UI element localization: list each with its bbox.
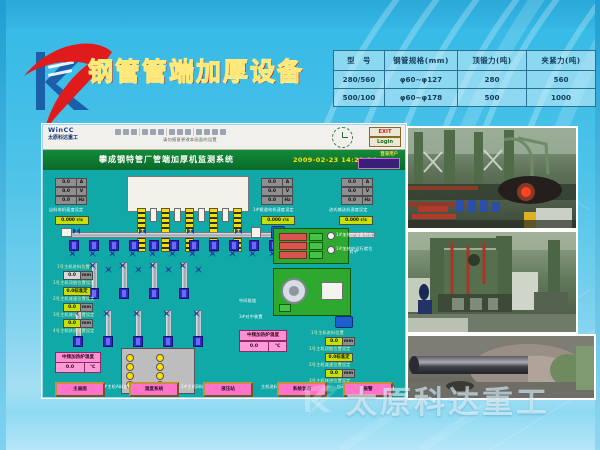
wincc-brand-text: WinCC: [48, 126, 74, 134]
heater-temp-title: 中频加热炉温度: [239, 330, 287, 341]
readout-unit: Hz: [76, 196, 87, 205]
cylinder-valve: [179, 288, 189, 299]
cross-node-icon: [89, 250, 96, 257]
status-label: 1#加热炉运行就位: [336, 246, 373, 252]
sensor-head: [222, 208, 229, 222]
background-left-edge: [0, 0, 6, 450]
cell-model: 280/560: [334, 71, 385, 89]
nav-button-hydraulic[interactable]: 液压站: [203, 382, 253, 397]
roller: [209, 240, 219, 251]
heater-temp-value: 0.0: [55, 362, 85, 373]
pipe-fitting: [61, 228, 72, 237]
param-label: 2号主机减速位置设定: [53, 296, 94, 302]
toolbar-separator: [139, 128, 140, 136]
th-model: 型 号: [334, 51, 385, 71]
status-lamp: [327, 246, 335, 254]
group-label: 1#辊道电机速度设定: [253, 207, 294, 213]
group-value: 0.000 r/s: [55, 216, 89, 225]
cylinder-valve: [73, 336, 83, 347]
group-label: 进式输送机速度设定: [329, 207, 368, 213]
cylinder-valve: [103, 336, 113, 347]
readout-unit: Hz: [282, 196, 293, 205]
roller: [109, 240, 119, 251]
heater-temp-value: 0.0: [239, 341, 269, 352]
cross-node-icon: [195, 266, 202, 273]
indicator-lamp: [126, 372, 134, 380]
param-label: 3号主机减速位置设定: [53, 312, 94, 318]
th-upset-force: 顶锻力(吨): [458, 51, 527, 71]
copy-icon[interactable]: [131, 129, 137, 135]
readout-unit: A: [362, 178, 373, 187]
cylinder-valve: [133, 336, 143, 347]
hmi-mimic-diagram: 0.0 A 0.0 V 0.0 Hz 出料电机速度设定 0.000 r/s 0.…: [43, 170, 405, 398]
param-value: 0.0: [63, 271, 81, 280]
specification-table: 型 号 钢管规格(mm) 顶锻力(吨) 夹紧力(吨) 280/560 φ60~φ…: [333, 50, 596, 107]
trend-icon[interactable]: [185, 129, 191, 135]
control-display: [321, 282, 343, 300]
cylinder-valve: [163, 336, 173, 347]
readout-voltage: 0.0: [341, 187, 363, 196]
wincc-brand: WinCC 太原科达重工: [48, 126, 78, 141]
cylinder-valve: [119, 288, 129, 299]
cylinder-valve: [193, 336, 203, 347]
group-value: 0.000 r/s: [339, 216, 373, 225]
sensor-head: [150, 208, 157, 222]
param-value: 0.0: [63, 303, 81, 312]
cross-node-icon: [249, 250, 256, 257]
roller: [129, 240, 139, 251]
status-label: 1#加热炉准备到位: [336, 232, 373, 238]
param-unit: mm: [80, 271, 93, 280]
toolbar-separator: [193, 128, 194, 136]
group-value: 0.000 r/s: [261, 216, 295, 225]
roller: [249, 240, 259, 251]
cross-node-icon: [109, 250, 116, 257]
info-icon[interactable]: [169, 129, 175, 135]
wincc-brand-sub: 太原科达重工: [48, 134, 78, 141]
grid-icon[interactable]: [212, 129, 218, 135]
watermark-text: 太原科达重工: [346, 377, 550, 422]
rotary-dial: [281, 278, 307, 304]
actuator-motor: [335, 316, 353, 328]
roller: [189, 240, 199, 251]
indicator-lamp: [126, 363, 134, 371]
manifold-valve: [279, 242, 307, 250]
list-icon[interactable]: [204, 129, 210, 135]
readout-unit: A: [76, 178, 87, 187]
indicator-lamp: [156, 363, 164, 371]
group-label: 出料电机速度设定: [49, 207, 83, 213]
zoom-in-icon[interactable]: [142, 129, 148, 135]
status-lamp: [327, 232, 335, 240]
control-terminal: [279, 304, 291, 312]
readout-frequency: 0.0: [341, 196, 363, 205]
analog-clock-icon: [332, 127, 353, 148]
cross-node-icon: [135, 266, 142, 273]
cell-upset-force: 280: [458, 71, 527, 89]
readout-current: 0.0: [341, 178, 363, 187]
readout-current: 0.0: [261, 178, 283, 187]
param-label: 4号主机快进位置设定: [53, 328, 94, 334]
param-value: 0.0: [325, 337, 343, 346]
param-unit: mm: [342, 337, 355, 346]
slide-root: 钢管管端加厚设备 型 号 钢管规格(mm) 顶锻力(吨) 夹紧力(吨) 280/…: [0, 0, 600, 450]
readout-unit: A: [282, 178, 293, 187]
toolbar-icon-strip[interactable]: [115, 128, 226, 136]
param-label: 2号主机减速位置设定: [309, 362, 350, 368]
param-unit: mm: [80, 319, 93, 328]
heater-temp-unit: ℃: [268, 341, 287, 352]
cross-node-icon: [165, 266, 172, 273]
workshop-conveyor-photo: [406, 126, 578, 230]
hmi-system-title: 攀成钢特管厂管端加厚机监测系统: [99, 154, 234, 165]
param-label: 1号主机顶锻位置设定: [309, 346, 350, 352]
indicator-lamp: [156, 372, 164, 380]
sensor-head: [174, 208, 181, 222]
readout-frequency: 0.0: [261, 196, 283, 205]
page-title: 钢管管端加厚设备: [88, 52, 304, 88]
toolbar-note: 请勿随意更改本画面的设置: [163, 137, 217, 143]
roller: [89, 240, 99, 251]
cell-pipe-size: φ60~φ178: [385, 89, 458, 107]
cross-node-icon: [169, 250, 176, 257]
login-button[interactable]: Login: [369, 137, 401, 147]
param-unit: mm: [80, 303, 93, 312]
readout-unit: V: [362, 187, 373, 196]
readout-unit: V: [76, 187, 87, 196]
save-icon[interactable]: [115, 129, 121, 135]
cell-model: 500/100: [334, 89, 385, 107]
toolbar-separator: [166, 128, 167, 136]
manifold-port: [309, 242, 323, 250]
roller: [149, 240, 159, 251]
roller: [229, 240, 239, 251]
zoom-out-icon[interactable]: [150, 129, 156, 135]
readout-unit: Hz: [362, 196, 373, 205]
table-row: 280/560 φ60~φ127 280 560: [334, 71, 596, 89]
cylinder-valve: [149, 288, 159, 299]
cell-clamp-force: 1000: [527, 89, 596, 107]
readout-voltage: 0.0: [55, 187, 77, 196]
param-value: 0.0标准定: [63, 287, 91, 296]
cell-clamp-force: 560: [527, 71, 596, 89]
param-value: 0.0: [63, 319, 81, 328]
roller: [169, 240, 179, 251]
readout-unit: V: [282, 187, 293, 196]
nav-button-main[interactable]: 主画面: [55, 382, 105, 397]
status-label: 3#对中装置: [239, 314, 263, 320]
cell-pipe-size: φ60~φ127: [385, 71, 458, 89]
hmi-toolbar: WinCC 太原科达重工 请勿随意更改本画面的设置 EXIT Login: [43, 125, 405, 150]
indicator-lamp: [156, 354, 164, 362]
th-clamp-force: 夹紧力(吨): [527, 51, 596, 71]
table-row: 500/100 φ60~φ178 500 1000: [334, 89, 596, 107]
hmi-user-input[interactable]: [358, 158, 400, 169]
nav-button-temperature[interactable]: 温度系统: [129, 382, 179, 397]
status-label: 中间辊道: [239, 298, 256, 304]
th-pipe-size: 钢管规格(mm): [385, 51, 458, 71]
watermark: 太原科达重工: [300, 376, 600, 422]
hmi-user-label: 登录用户: [380, 151, 398, 157]
cross-node-icon: [69, 250, 76, 257]
heater-temp-unit: ℃: [84, 362, 101, 373]
manifold-valve: [279, 233, 307, 241]
param-label: 1号主机顶锻位置设定: [53, 280, 94, 286]
param-value: 0.0标准定: [325, 353, 353, 362]
exit-button[interactable]: EXIT: [369, 127, 401, 137]
manifold-port: [309, 233, 323, 241]
cell-upset-force: 500: [458, 89, 527, 107]
cross-node-icon: [105, 266, 112, 273]
alarm-icon[interactable]: [177, 129, 183, 135]
watermark-logo-icon: [300, 382, 340, 416]
readout-current: 0.0: [55, 178, 77, 187]
param-label: 1号主机进料位置: [57, 264, 90, 270]
hmi-title-bar: 攀成钢特管厂管端加厚机监测系统 2009-02-23 14:29:24 登录用户: [43, 150, 405, 170]
manifold-valve: [279, 251, 307, 259]
upsetting-machine-photo: [406, 230, 578, 334]
sensor-head: [198, 208, 205, 222]
furnace-housing: [127, 176, 249, 212]
param-label: 1号主机进料位置: [311, 330, 344, 336]
roller: [69, 240, 79, 251]
readout-voltage: 0.0: [261, 187, 283, 196]
print-icon[interactable]: [123, 129, 129, 135]
window-icon[interactable]: [196, 129, 202, 135]
readout-frequency: 0.0: [55, 196, 77, 205]
help-icon[interactable]: [220, 129, 226, 135]
table-header-row: 型 号 钢管规格(mm) 顶锻力(吨) 夹紧力(吨): [334, 51, 596, 71]
pipe-fitting: [251, 227, 261, 238]
indicator-lamp: [126, 354, 134, 362]
manifold-port: [309, 251, 323, 259]
hmi-scada-screenshot: WinCC 太原科达重工 请勿随意更改本画面的设置 EXIT Login 攀成钢…: [42, 124, 406, 398]
cross-node-icon: [129, 250, 136, 257]
cross-node-icon: [149, 250, 156, 257]
cut-icon[interactable]: [158, 129, 164, 135]
